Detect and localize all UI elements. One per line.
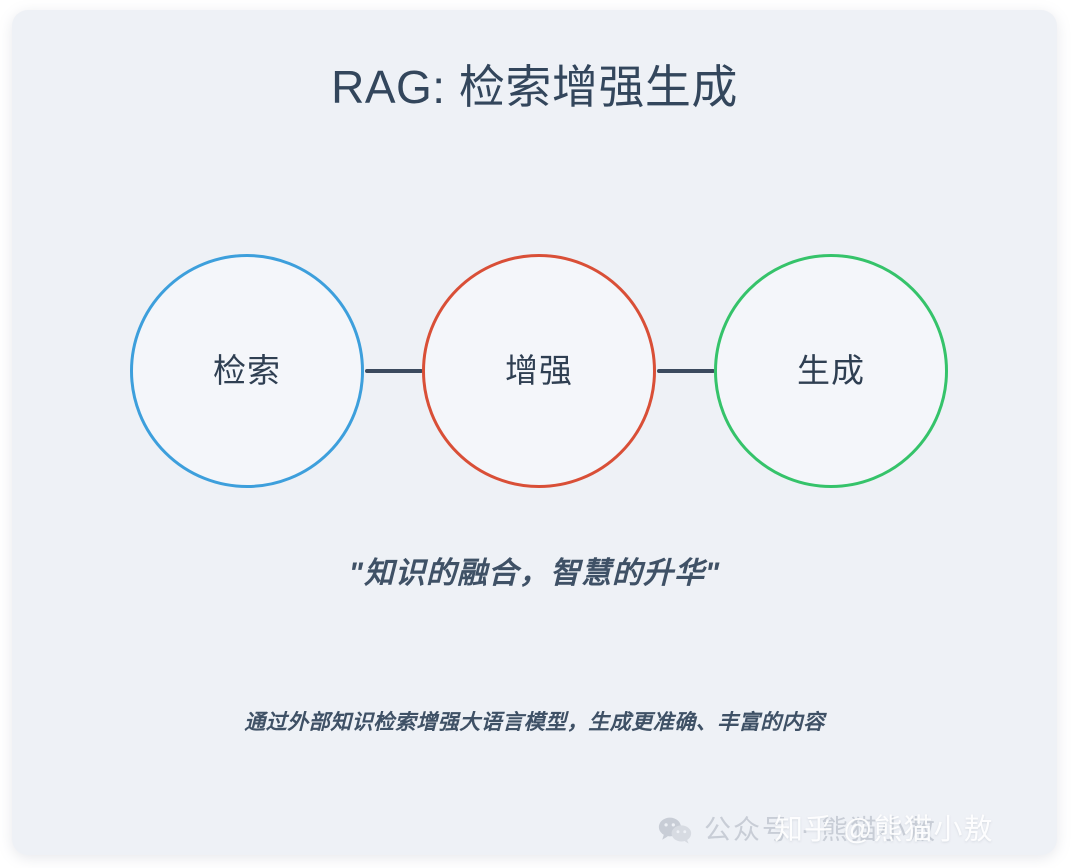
connector-retrieval-to-augment	[365, 369, 423, 373]
stage-circle-augment[interactable]: 增强	[422, 254, 656, 488]
stage-circle-retrieval[interactable]: 检索	[130, 254, 364, 488]
connector-augment-to-generate	[657, 369, 715, 373]
quote-text: "知识的融合，智慧的升华"	[12, 552, 1057, 596]
rag-pipeline-diagram: 检索 增强 生成	[130, 242, 966, 500]
wechat-icon	[658, 816, 692, 844]
stage-label-augment: 增强	[505, 354, 573, 388]
stage-circle-generate[interactable]: 生成	[714, 254, 948, 488]
zhihu-watermark: 知乎 @熊猫小敖	[774, 810, 994, 850]
stage-label-generate: 生成	[797, 354, 865, 388]
stage-label-retrieval: 检索	[213, 354, 281, 388]
infographic-card: RAG: 检索增强生成 检索 增强 生成 "知识的融合，智慧的升华" 通过外部知…	[12, 10, 1057, 855]
page-title: RAG: 检索增强生成	[12, 56, 1057, 118]
description-text: 通过外部知识检索增强大语言模型，生成更准确、丰富的内容	[12, 707, 1057, 739]
